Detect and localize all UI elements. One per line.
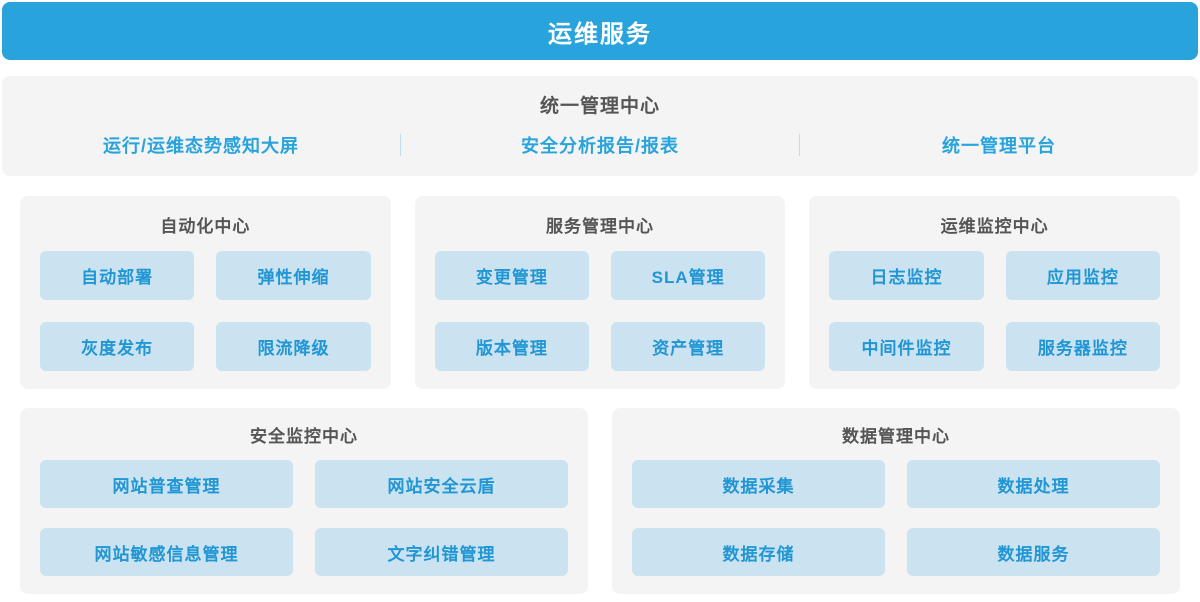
chip-item[interactable]: 自动部署 [40,251,194,300]
card-row-top: 自动化中心 自动部署 弹性伸缩 灰度发布 限流降级 服务管理中心 变更管理 SL… [20,196,1180,389]
chip-item[interactable]: 资产管理 [611,322,765,371]
chip-item[interactable]: 版本管理 [435,322,589,371]
architecture-diagram-page: 运维服务 统一管理中心 运行/运维态势感知大屏 安全分析报告/报表 统一管理平台… [0,0,1200,602]
chip-grid: 自动部署 弹性伸缩 灰度发布 限流降级 [40,251,371,371]
card-title: 服务管理中心 [435,212,766,237]
card-service-management-center: 服务管理中心 变更管理 SLA管理 版本管理 资产管理 [415,196,786,389]
chip-item[interactable]: 网站敏感信息管理 [40,528,293,576]
chip-item[interactable]: 应用监控 [1006,251,1160,300]
chip-item[interactable]: 变更管理 [435,251,589,300]
chip-item[interactable]: 中间件监控 [829,322,983,371]
card-data-management-center: 数据管理中心 数据采集 数据处理 数据存储 数据服务 [612,408,1180,594]
chip-item[interactable]: 数据处理 [907,460,1160,508]
management-link-security-report[interactable]: 安全分析报告/报表 [401,132,799,158]
chip-grid: 变更管理 SLA管理 版本管理 资产管理 [435,251,766,371]
chip-item[interactable]: 数据采集 [632,460,885,508]
chip-item[interactable]: 网站安全云盾 [315,460,568,508]
chip-item[interactable]: 网站普查管理 [40,460,293,508]
unified-management-center-section: 统一管理中心 运行/运维态势感知大屏 安全分析报告/报表 统一管理平台 [2,76,1198,176]
card-automation-center: 自动化中心 自动部署 弹性伸缩 灰度发布 限流降级 [20,196,391,389]
card-title: 自动化中心 [40,212,371,237]
chip-item[interactable]: SLA管理 [611,251,765,300]
chip-grid: 数据采集 数据处理 数据存储 数据服务 [632,460,1160,576]
unified-management-center-links: 运行/运维态势感知大屏 安全分析报告/报表 统一管理平台 [2,132,1198,158]
card-title: 安全监控中心 [40,422,568,447]
card-title: 运维监控中心 [829,212,1160,237]
chip-item[interactable]: 数据存储 [632,528,885,576]
chip-item[interactable]: 服务器监控 [1006,322,1160,371]
chip-item[interactable]: 数据服务 [907,528,1160,576]
chip-item[interactable]: 弹性伸缩 [216,251,370,300]
page-title: 运维服务 [548,14,652,49]
card-row-bottom: 安全监控中心 网站普查管理 网站安全云盾 网站敏感信息管理 文字纠错管理 数据管… [20,408,1180,594]
management-link-platform[interactable]: 统一管理平台 [800,132,1198,158]
chip-item[interactable]: 灰度发布 [40,322,194,371]
management-link-dashboard[interactable]: 运行/运维态势感知大屏 [2,132,400,158]
chip-grid: 日志监控 应用监控 中间件监控 服务器监控 [829,251,1160,371]
chip-item[interactable]: 限流降级 [216,322,370,371]
page-banner: 运维服务 [2,2,1198,60]
card-operations-monitoring-center: 运维监控中心 日志监控 应用监控 中间件监控 服务器监控 [809,196,1180,389]
card-security-monitoring-center: 安全监控中心 网站普查管理 网站安全云盾 网站敏感信息管理 文字纠错管理 [20,408,588,594]
unified-management-center-title: 统一管理中心 [2,91,1198,118]
chip-item[interactable]: 日志监控 [829,251,983,300]
card-title: 数据管理中心 [632,422,1160,447]
chip-grid: 网站普查管理 网站安全云盾 网站敏感信息管理 文字纠错管理 [40,460,568,576]
chip-item[interactable]: 文字纠错管理 [315,528,568,576]
